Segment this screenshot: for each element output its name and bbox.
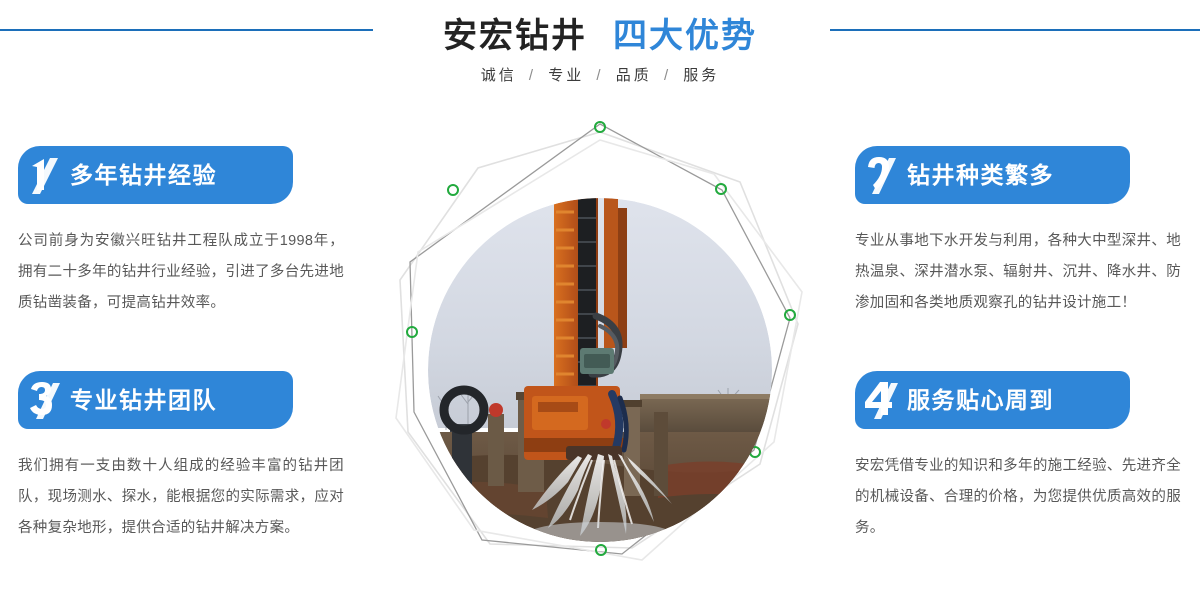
feature-card-2-banner: 钻井种类繁多 xyxy=(855,146,1130,204)
page-title: 安宏钻井四大优势 xyxy=(0,8,1200,57)
subtitle-item-0: 诚信 xyxy=(481,67,517,84)
feature-card-3-body: 我们拥有一支由数十人组成的经验丰富的钻井团队，现场测水、探水，能根据您的实际需求… xyxy=(18,451,344,544)
subtitle-separator-0: / xyxy=(529,67,536,84)
number-4-icon xyxy=(855,371,911,429)
feature-card-2-title: 钻井种类繁多 xyxy=(907,164,1054,187)
drilling-rig-photo xyxy=(428,198,772,542)
vertex-marker-top-left xyxy=(448,185,458,195)
feature-card-2-body: 专业从事地下水开发与利用，各种大中型深井、地热温泉、深井潜水泵、辐射井、沉井、降… xyxy=(855,226,1181,319)
number-1-icon xyxy=(18,146,74,204)
feature-card-3-title: 专业钻井团队 xyxy=(70,389,217,412)
feature-card-4-body: 安宏凭借专业的知识和多年的施工经验、先进齐全的机械设备、合理的价格，为您提供优质… xyxy=(855,451,1181,544)
title-main: 安宏钻井 xyxy=(443,8,587,57)
subtitle-item-1: 专业 xyxy=(548,67,584,84)
feature-card-1-banner: 多年钻井经验 xyxy=(18,146,293,204)
feature-card-2: 钻井种类繁多 专业从事地下水开发与利用，各种大中型深井、地热温泉、深井潜水泵、辐… xyxy=(855,146,1195,319)
feature-card-4-title: 服务贴心周到 xyxy=(907,389,1054,412)
page-header: 安宏钻井四大优势 诚信 / 专业 / 品质 / 服务 xyxy=(0,0,1200,110)
feature-card-4: 服务贴心周到 安宏凭借专业的知识和多年的施工经验、先进齐全的机械设备、合理的价格… xyxy=(855,371,1195,544)
page-root: 安宏钻井四大优势 诚信 / 专业 / 品质 / 服务 xyxy=(0,0,1200,600)
title-accent: 四大优势 xyxy=(613,8,757,57)
number-2-icon xyxy=(855,146,911,204)
feature-card-3-banner: 专业钻井团队 xyxy=(18,371,293,429)
header-subtitle: 诚信 / 专业 / 品质 / 服务 xyxy=(0,64,1200,85)
subtitle-item-3: 服务 xyxy=(683,67,719,84)
number-3-icon xyxy=(18,371,74,429)
subtitle-separator-1: / xyxy=(596,67,603,84)
subtitle-separator-2: / xyxy=(664,67,671,84)
photo-illustration xyxy=(428,198,772,542)
center-graphic xyxy=(370,112,830,592)
feature-card-1-title: 多年钻井经验 xyxy=(70,164,217,187)
subtitle-item-2: 品质 xyxy=(616,67,652,84)
feature-card-1: 多年钻井经验 公司前身为安徽兴旺钻井工程队成立于1998年，拥有二十多年的钻井行… xyxy=(18,146,358,319)
feature-card-3: 专业钻井团队 我们拥有一支由数十人组成的经验丰富的钻井团队，现场测水、探水，能根… xyxy=(18,371,358,544)
feature-card-4-banner: 服务贴心周到 xyxy=(855,371,1130,429)
feature-card-1-body: 公司前身为安徽兴旺钻井工程队成立于1998年，拥有二十多年的钻井行业经验，引进了… xyxy=(18,226,344,319)
